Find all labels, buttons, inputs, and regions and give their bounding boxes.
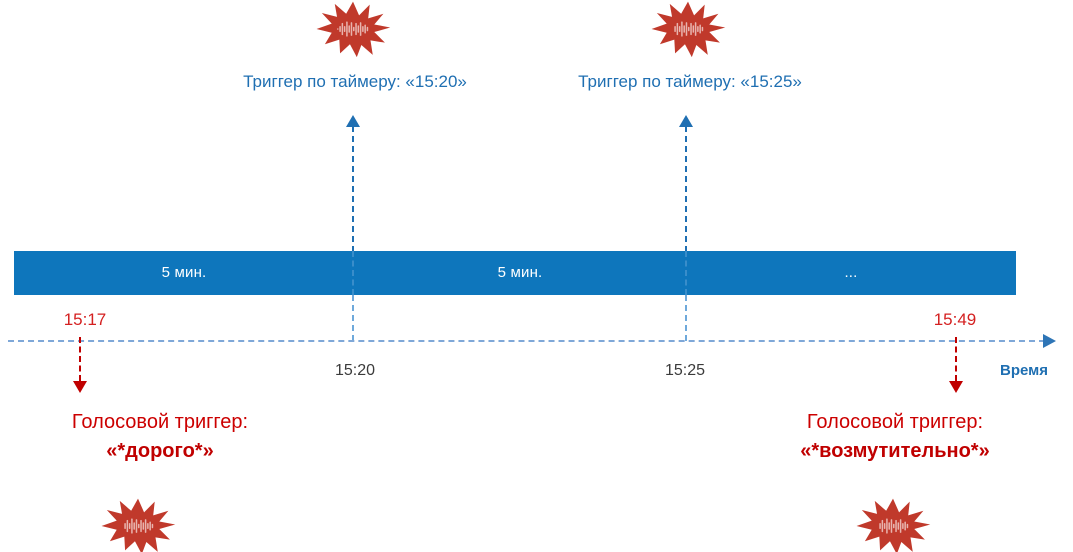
burst-waveform-icon (100, 497, 176, 552)
bar-to-axis-connector-2 (685, 295, 687, 341)
down-arrow-shaft-2 (955, 337, 957, 381)
bar-segment-label-3: ... (686, 251, 1016, 295)
up-arrow-shaft-1 (352, 126, 354, 252)
bar-segment-label-2: 5 мин. (354, 251, 686, 295)
voice-trigger-title-1: Голосовой триггер: (0, 408, 320, 436)
bar-segment-label-1: 5 мин. (14, 251, 354, 295)
down-arrow-shaft-1 (79, 337, 81, 381)
voice-trigger-phrase-1: «*дорого*» (0, 436, 320, 466)
axis-tick-label-1520: 15:20 (320, 362, 390, 380)
burst-waveform-icon (855, 497, 931, 552)
time-axis-label: Время (1000, 362, 1048, 379)
voice-trigger-callout-1: Голосовой триггер: «*дорого*» (0, 408, 320, 466)
down-arrow-head-1 (73, 381, 87, 393)
timer-trigger-caption-2: Триггер по таймеру: «15:25» (490, 72, 890, 92)
voice-trigger-callout-2: Голосовой триггер: «*возмутительно*» (730, 408, 1060, 466)
voice-trigger-time-1: 15:17 (40, 310, 130, 330)
time-axis-arrow-icon (1043, 334, 1056, 348)
voice-trigger-title-2: Голосовой триггер: (730, 408, 1060, 436)
down-arrow-head-2 (949, 381, 963, 393)
voice-trigger-phrase-2: «*возмутительно*» (730, 436, 1060, 466)
time-axis (8, 340, 1045, 342)
voice-trigger-time-2: 15:49 (910, 310, 1000, 330)
burst-waveform-icon (315, 0, 391, 58)
burst-waveform-icon (650, 0, 726, 58)
bar-to-axis-connector-1 (352, 295, 354, 341)
timeline-diagram: Триггер по таймеру: «15:20» Триггер по т… (0, 0, 1073, 552)
up-arrow-shaft-2 (685, 126, 687, 252)
axis-tick-label-1525: 15:25 (650, 362, 720, 380)
